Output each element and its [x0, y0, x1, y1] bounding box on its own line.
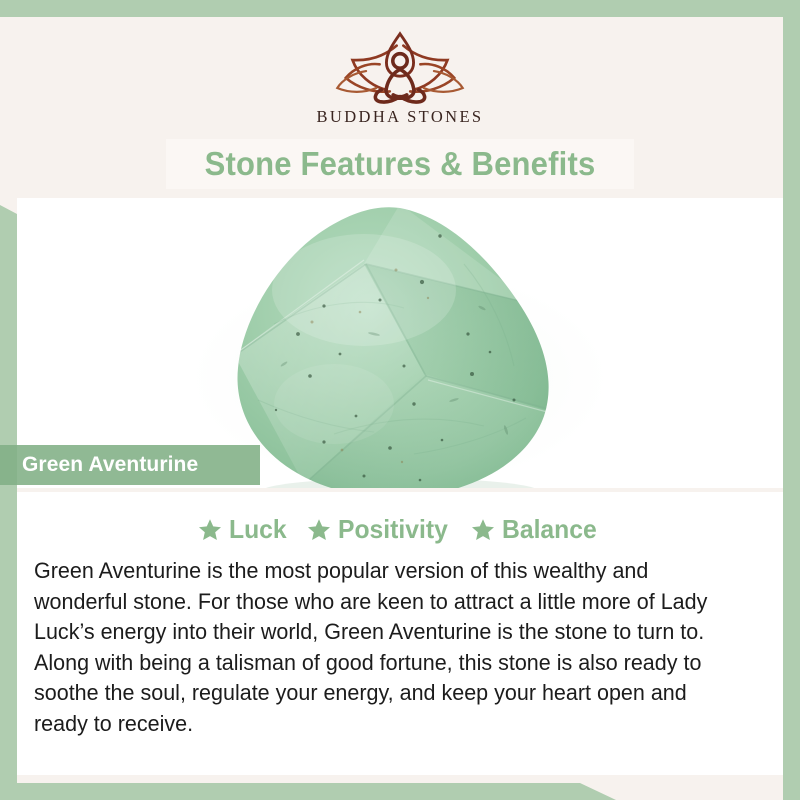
benefit-label: Luck: [229, 514, 287, 545]
brand-header: BUDDHA STONES: [0, 17, 800, 135]
benefits-list: Luck Positivity Balance: [17, 514, 783, 545]
star-icon: [198, 518, 222, 542]
frame-band-top: [0, 0, 800, 17]
benefit-label: Balance: [502, 514, 597, 545]
infographic-page: BUDDHA STONES Stone Features & Benefits: [0, 0, 800, 800]
lotus-meditation-icon: [315, 27, 485, 105]
star-icon: [307, 518, 331, 542]
page-title: Stone Features & Benefits: [24, 139, 776, 189]
green-aventurine-stone-image: [214, 204, 586, 488]
stone-name-label: Green Aventurine: [22, 453, 198, 477]
benefit-item-positivity: Positivity: [307, 514, 454, 545]
benefit-item-luck: Luck: [198, 514, 290, 545]
benefit-label: Positivity: [338, 514, 448, 545]
brand-name: BUDDHA STONES: [316, 107, 483, 127]
star-icon: [471, 518, 495, 542]
stone-name-badge: Green Aventurine: [0, 445, 260, 485]
frame-band-left: [0, 205, 17, 800]
frame-band-bottom: [0, 783, 616, 800]
benefit-item-balance: Balance: [471, 514, 602, 545]
description-text: Green Aventurine is the most popular ver…: [34, 556, 744, 739]
